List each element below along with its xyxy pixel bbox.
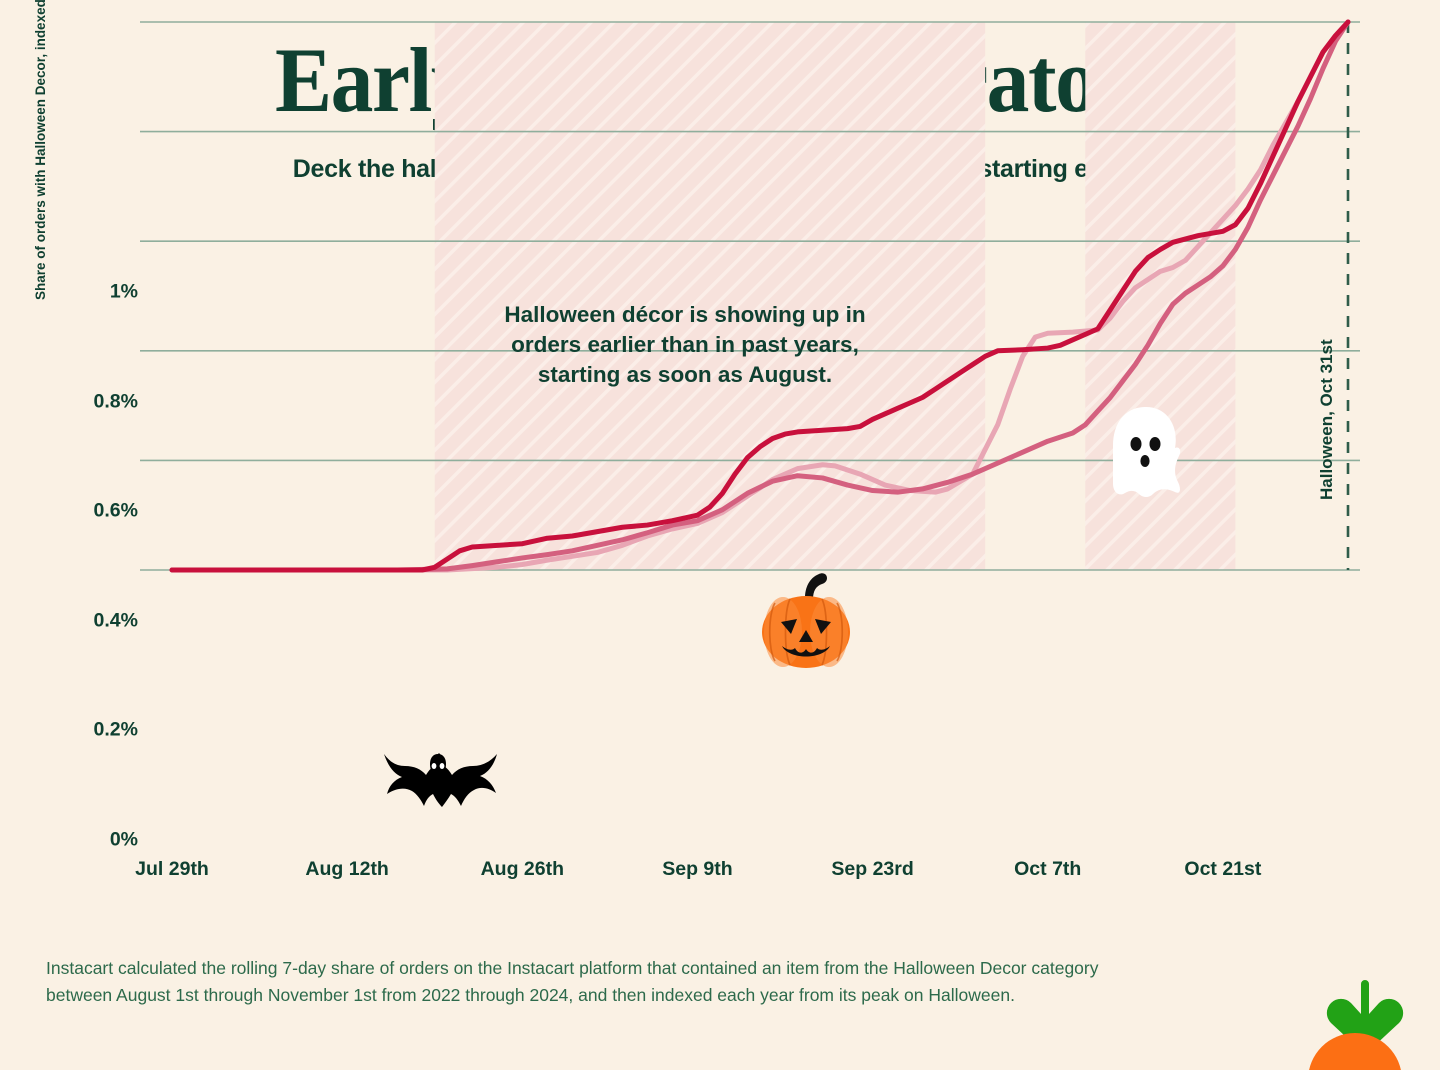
infographic-page: Early Spooky Decorators Deck the halls w… [0,0,1440,1063]
x-tick-4: Sep 23rd [831,858,913,881]
ghost-icon [1105,404,1187,500]
x-tick-6: Oct 21st [1184,858,1261,881]
instacart-carrot-logo [1300,975,1410,1070]
annotation-line-1: Halloween décor is showing up in [460,300,910,330]
x-tick-1: Aug 12th [305,858,388,881]
x-tick-5: Oct 7th [1014,858,1081,881]
y-tick-1: 0.2% [28,719,138,742]
x-tick-2: Aug 26th [481,858,564,881]
halloween-line-label: Halloween, Oct 31st [1317,339,1337,500]
chart-annotation: Halloween décor is showing up in orders … [460,300,910,390]
y-tick-0: 0% [28,829,138,852]
footnote-text: Instacart calculated the rolling 7-day s… [46,955,1126,1009]
annotation-line-2: orders earlier than in past years, [460,330,910,360]
jack-o-lantern-icon [757,570,855,670]
annotation-line-3: starting as soon as August. [460,360,910,390]
x-tick-3: Sep 9th [662,858,732,881]
x-tick-0: Jul 29th [135,858,209,881]
bat-icon [378,744,498,810]
